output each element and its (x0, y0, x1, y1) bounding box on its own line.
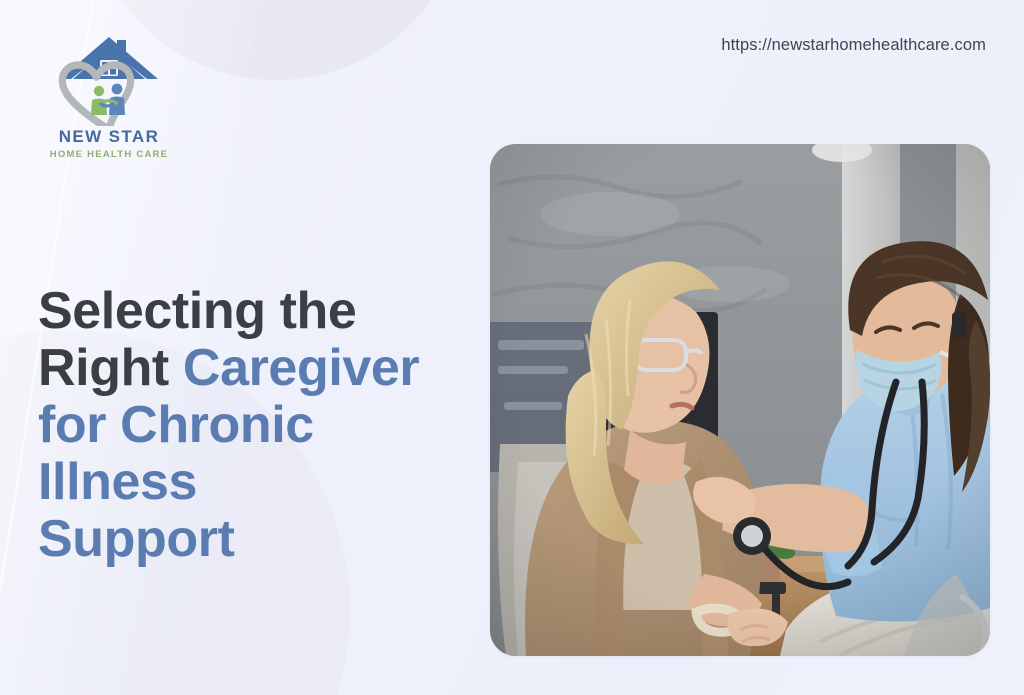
hero-photo (490, 144, 990, 656)
brand-logo[interactable]: NEW STAR HOME HEALTH CARE (44, 34, 174, 158)
website-url[interactable]: https://newstarhomehealthcare.com (721, 36, 986, 55)
page-title: Selecting the Right Caregiver for Chroni… (38, 283, 468, 568)
logo-brand-name: NEW STAR (44, 128, 174, 145)
hero-photo-illustration (490, 144, 990, 656)
headline-line-2-dark: Right (38, 339, 169, 397)
logo-tagline: HOME HEALTH CARE (44, 150, 174, 160)
house-heart-family-icon (55, 34, 163, 126)
headline-line-2-accent: Caregiver (183, 339, 419, 397)
poster-canvas: NEW STAR HOME HEALTH CARE https://newsta… (0, 0, 1024, 695)
headline-line-1: Selecting the (38, 282, 356, 340)
headline-line-4-accent: Support (38, 510, 235, 568)
headline-line-3-accent: for Chronic Illness (38, 396, 314, 511)
